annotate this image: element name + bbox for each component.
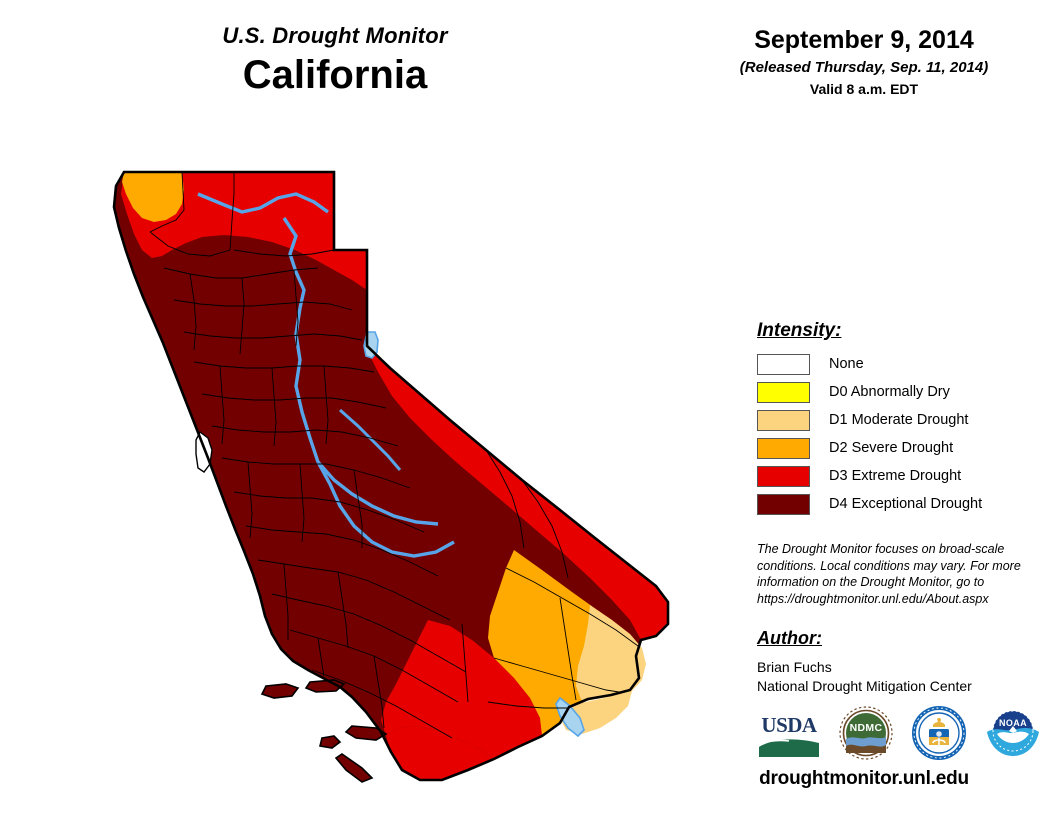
legend-swatch-d3 <box>757 466 810 487</box>
ndmc-logo: NDMC <box>838 706 894 760</box>
author-block: Author: Brian Fuchs National Drought Mit… <box>757 628 1042 696</box>
legend-label-none: None <box>829 356 864 372</box>
legend-swatch-none <box>757 354 810 375</box>
legend-item-d2: D2 Severe Drought <box>757 435 1047 461</box>
legend-label-d3: D3 Extreme Drought <box>829 468 961 484</box>
noaa-logo: NOAA <box>984 706 1042 760</box>
california-drought-map <box>90 150 680 800</box>
site-url: droughtmonitor.unl.edu <box>672 768 1056 790</box>
legend-item-d0: D0 Abnormally Dry <box>757 379 1047 405</box>
svg-text:NDMC: NDMC <box>850 722 883 734</box>
usda-logo: USDA <box>757 707 821 759</box>
drought-monitor-supertitle: U.S. Drought Monitor <box>0 24 670 48</box>
legend-swatch-d2 <box>757 438 810 459</box>
legend-label-d0: D0 Abnormally Dry <box>829 384 950 400</box>
legend-swatch-d0 <box>757 382 810 403</box>
legend-label-d4: D4 Exceptional Drought <box>829 496 982 512</box>
legend-item-d1: D1 Moderate Drought <box>757 407 1047 433</box>
logo-row: USDA NDMC NOAA <box>757 702 1042 764</box>
legend-label-d2: D2 Severe Drought <box>829 440 953 456</box>
usdc-seal-logo <box>911 705 967 761</box>
title-block: U.S. Drought Monitor California <box>0 24 670 98</box>
date-block: September 9, 2014 (Released Thursday, Se… <box>672 26 1056 97</box>
legend: Intensity: None D0 Abnormally Dry D1 Mod… <box>757 320 1047 519</box>
legend-title: Intensity: <box>757 320 1047 342</box>
svg-text:USDA: USDA <box>761 713 818 737</box>
legend-item-d4: D4 Exceptional Drought <box>757 491 1047 517</box>
valid-time: Valid 8 a.m. EDT <box>672 81 1056 97</box>
release-date: (Released Thursday, Sep. 11, 2014) <box>672 59 1056 76</box>
drought-polygons <box>114 172 668 782</box>
author-name: Brian Fuchs <box>757 658 1042 677</box>
author-organization: National Drought Mitigation Center <box>757 677 1042 696</box>
valid-date: September 9, 2014 <box>672 26 1056 55</box>
state-name-heading: California <box>0 52 670 98</box>
svg-text:NOAA: NOAA <box>999 718 1027 728</box>
legend-item-d3: D3 Extreme Drought <box>757 463 1047 489</box>
author-title: Author: <box>757 628 1042 649</box>
legend-label-d1: D1 Moderate Drought <box>829 412 968 428</box>
legend-item-none: None <box>757 351 1047 377</box>
disclaimer-text: The Drought Monitor focuses on broad-sca… <box>757 541 1032 607</box>
legend-swatch-d1 <box>757 410 810 431</box>
legend-swatch-d4 <box>757 494 810 515</box>
